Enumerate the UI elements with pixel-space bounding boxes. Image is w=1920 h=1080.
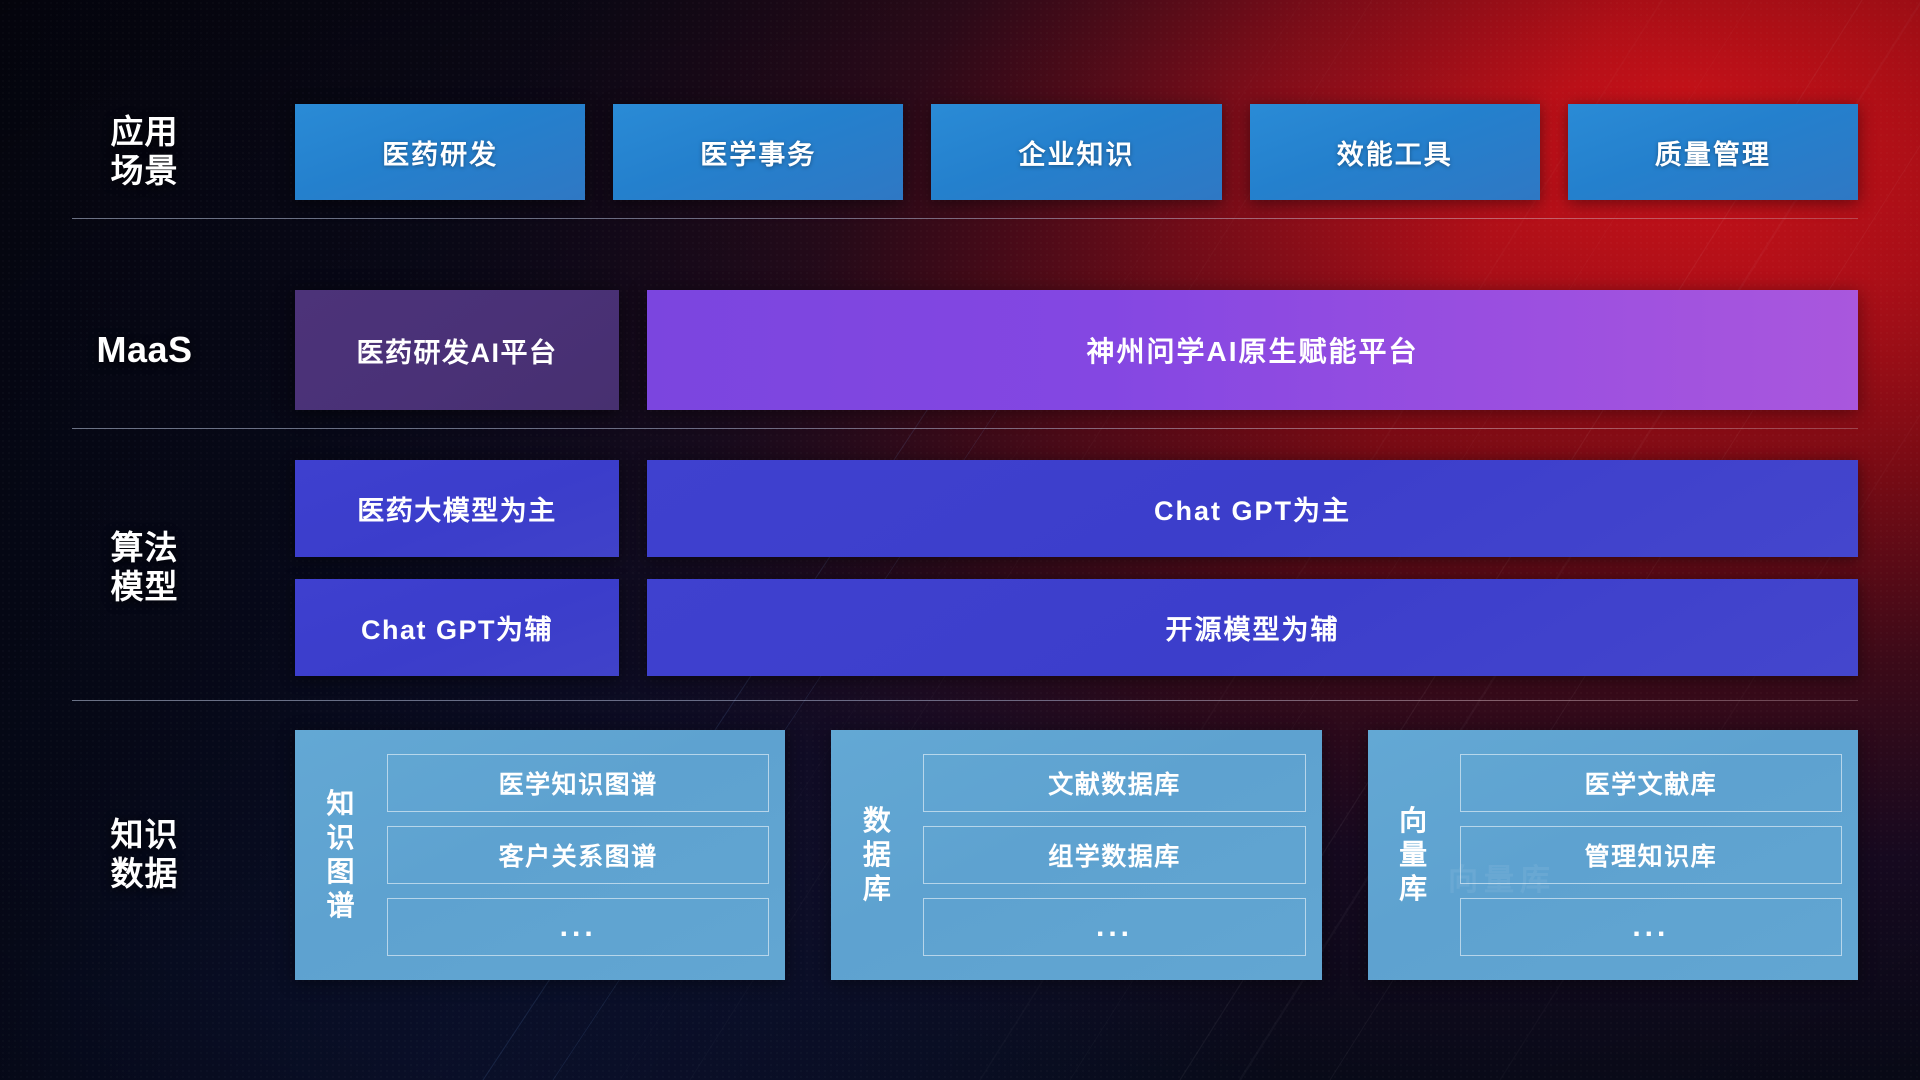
knowledge-item-list-vector-store: 医学文献库 管理知识库 ... — [1448, 754, 1842, 956]
row-applications: 应用 场景 医药研发 医学事务 企业知识 效能工具 质量管理 — [72, 104, 1858, 200]
application-card-list: 医药研发 医学事务 企业知识 效能工具 质量管理 — [295, 104, 1858, 200]
knowledge-item-literature-database[interactable]: 文献数据库 — [923, 754, 1305, 812]
row-label-knowledge-data: 知识 数据 — [72, 816, 217, 894]
knowledge-panel-list: 知识图谱 医学知识图谱 客户关系图谱 ... 数据库 文献数据库 组学数据库 .… — [295, 730, 1858, 980]
knowledge-item-omics-database[interactable]: 组学数据库 — [923, 826, 1305, 884]
maas-card-shenzhou-wenxue-platform[interactable]: 神州问学AI原生赋能平台 — [647, 290, 1858, 410]
knowledge-item-list-knowledge-graph: 医学知识图谱 客户关系图谱 ... — [375, 754, 769, 956]
application-card-medical-affairs[interactable]: 医学事务 — [613, 104, 903, 200]
application-card-efficiency-tools[interactable]: 效能工具 — [1250, 104, 1540, 200]
algorithm-card-chatgpt-primary[interactable]: Chat GPT为主 — [647, 460, 1858, 557]
knowledge-item-management-knowledge-store[interactable]: 管理知识库 — [1460, 826, 1842, 884]
application-card-medicine-rd[interactable]: 医药研发 — [295, 104, 585, 200]
knowledge-item-more-database[interactable]: ... — [923, 898, 1305, 956]
algorithm-row-primary: 医药大模型为主 Chat GPT为主 — [295, 460, 1858, 557]
knowledge-item-list-database: 文献数据库 组学数据库 ... — [911, 754, 1305, 956]
algorithm-card-pharma-llm-primary[interactable]: 医药大模型为主 — [295, 460, 619, 557]
knowledge-panel-label-knowledge-graph: 知识图谱 — [307, 787, 375, 924]
algorithm-card-opensource-secondary[interactable]: 开源模型为辅 — [647, 579, 1858, 676]
algorithm-row-secondary: Chat GPT为辅 开源模型为辅 — [295, 579, 1858, 676]
knowledge-panel-label-vector-store: 向量库 — [1380, 804, 1448, 906]
knowledge-panel-vector-store[interactable]: 向量库 医学文献库 管理知识库 ... — [1368, 730, 1858, 980]
knowledge-item-medical-knowledge-graph[interactable]: 医学知识图谱 — [387, 754, 769, 812]
slide-canvas: 应用 场景 医药研发 医学事务 企业知识 效能工具 质量管理 MaaS 医药研发… — [0, 0, 1920, 1080]
application-card-quality-management[interactable]: 质量管理 — [1568, 104, 1858, 200]
knowledge-panel-knowledge-graph[interactable]: 知识图谱 医学知识图谱 客户关系图谱 ... — [295, 730, 785, 980]
knowledge-item-customer-relation-graph[interactable]: 客户关系图谱 — [387, 826, 769, 884]
row-label-algorithm-models: 算法 模型 — [72, 529, 217, 607]
row-knowledge-data: 知识 数据 知识图谱 医学知识图谱 客户关系图谱 ... 数据库 文献数据库 组… — [72, 730, 1858, 980]
knowledge-item-medical-literature-store[interactable]: 医学文献库 — [1460, 754, 1842, 812]
knowledge-item-more-vector-store[interactable]: ... — [1460, 898, 1842, 956]
knowledge-panel-database[interactable]: 数据库 文献数据库 组学数据库 ... — [831, 730, 1321, 980]
divider-applications-maas — [72, 218, 1858, 219]
row-maas: MaaS 医药研发AI平台 神州问学AI原生赋能平台 — [72, 290, 1858, 410]
algorithm-card-chatgpt-secondary[interactable]: Chat GPT为辅 — [295, 579, 619, 676]
knowledge-item-more-knowledge-graph[interactable]: ... — [387, 898, 769, 956]
algorithm-card-list: 医药大模型为主 Chat GPT为主 Chat GPT为辅 开源模型为辅 — [295, 460, 1858, 676]
divider-maas-algorithm — [72, 428, 1858, 429]
divider-algorithm-knowledge — [72, 700, 1858, 701]
knowledge-panel-label-database: 数据库 — [843, 804, 911, 906]
maas-card-list: 医药研发AI平台 神州问学AI原生赋能平台 — [295, 290, 1858, 410]
maas-card-pharma-ai-platform[interactable]: 医药研发AI平台 — [295, 290, 619, 410]
row-label-maas: MaaS — [72, 329, 217, 371]
application-card-enterprise-knowledge[interactable]: 企业知识 — [931, 104, 1221, 200]
row-algorithm-models: 算法 模型 医药大模型为主 Chat GPT为主 Chat GPT为辅 开源模型… — [72, 460, 1858, 676]
row-label-applications: 应用 场景 — [72, 113, 217, 191]
